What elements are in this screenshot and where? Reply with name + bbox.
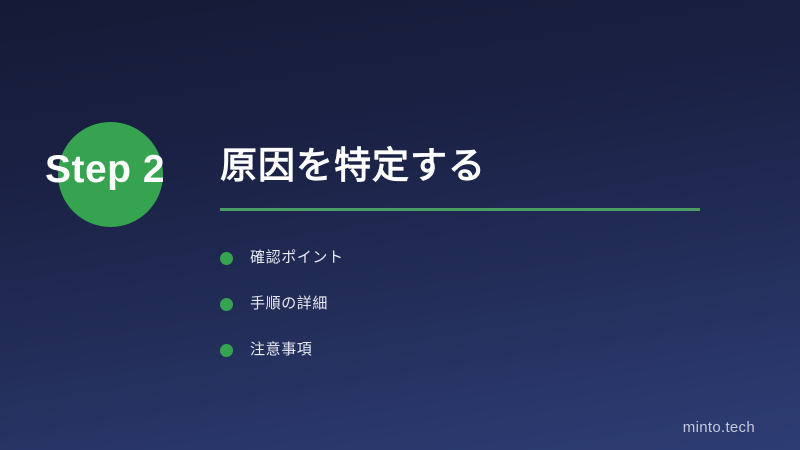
title-divider <box>220 208 700 211</box>
footer-brand: minto.tech <box>683 419 755 436</box>
slide-content: 原因を特定する 確認ポイント 手順の詳細 注意事項 <box>220 140 780 373</box>
step-badge: Step 2 <box>0 118 210 228</box>
list-item-label: 手順の詳細 <box>250 294 328 314</box>
list-item-label: 確認ポイント <box>250 248 344 268</box>
presentation-slide: Step 2 原因を特定する 確認ポイント 手順の詳細 注意事項 minto.t… <box>0 0 800 450</box>
bullet-dot-icon <box>220 298 233 311</box>
bullet-dot-icon <box>220 344 233 357</box>
list-item-label: 注意事項 <box>250 340 312 360</box>
bullet-list: 確認ポイント 手順の詳細 注意事項 <box>220 235 780 373</box>
list-item: 注意事項 <box>220 327 780 373</box>
list-item: 手順の詳細 <box>220 281 780 327</box>
slide-title: 原因を特定する <box>220 140 780 192</box>
step-label: Step 2 <box>0 146 210 194</box>
list-item: 確認ポイント <box>220 235 780 281</box>
bullet-dot-icon <box>220 252 233 265</box>
